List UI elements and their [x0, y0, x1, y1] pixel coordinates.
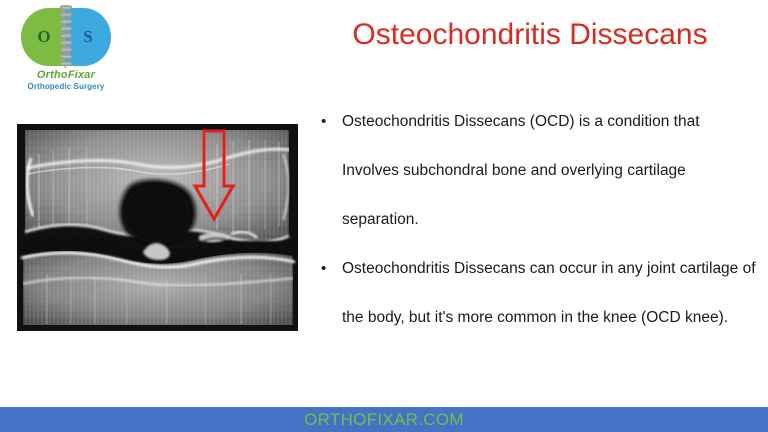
logo-tagline: Orthopedic Surgery [14, 82, 118, 91]
logo-brand-name: OrthoFixar [14, 69, 118, 81]
page-title: Osteochondritis Dissecans [300, 18, 760, 52]
bullet-text-1: Osteochondritis Dissecans (OCD) is a con… [342, 113, 700, 228]
bullet-glyph: • [321, 244, 326, 293]
list-item: • Osteochondritis Dissecans can occur in… [316, 244, 756, 342]
bullet-glyph: • [321, 97, 326, 146]
list-item: • Osteochondritis Dissecans (OCD) is a c… [316, 97, 756, 244]
spine-icon [59, 4, 73, 70]
knee-ct-image [17, 124, 298, 331]
footer-bar: ORTHOFIXAR.COM [0, 407, 768, 432]
logo-letter-s: S [83, 27, 92, 47]
logo-mark: O S [18, 4, 114, 68]
slide-canvas: O S OrthoFixar O [0, 0, 768, 432]
footer-website-label[interactable]: ORTHOFIXAR.COM [0, 407, 768, 432]
brand-logo[interactable]: O S OrthoFixar O [14, 4, 118, 104]
bullet-text-2: Osteochondritis Dissecans can occur in a… [342, 260, 756, 326]
bullet-list: • Osteochondritis Dissecans (OCD) is a c… [316, 97, 756, 342]
logo-letter-o: O [37, 27, 50, 47]
